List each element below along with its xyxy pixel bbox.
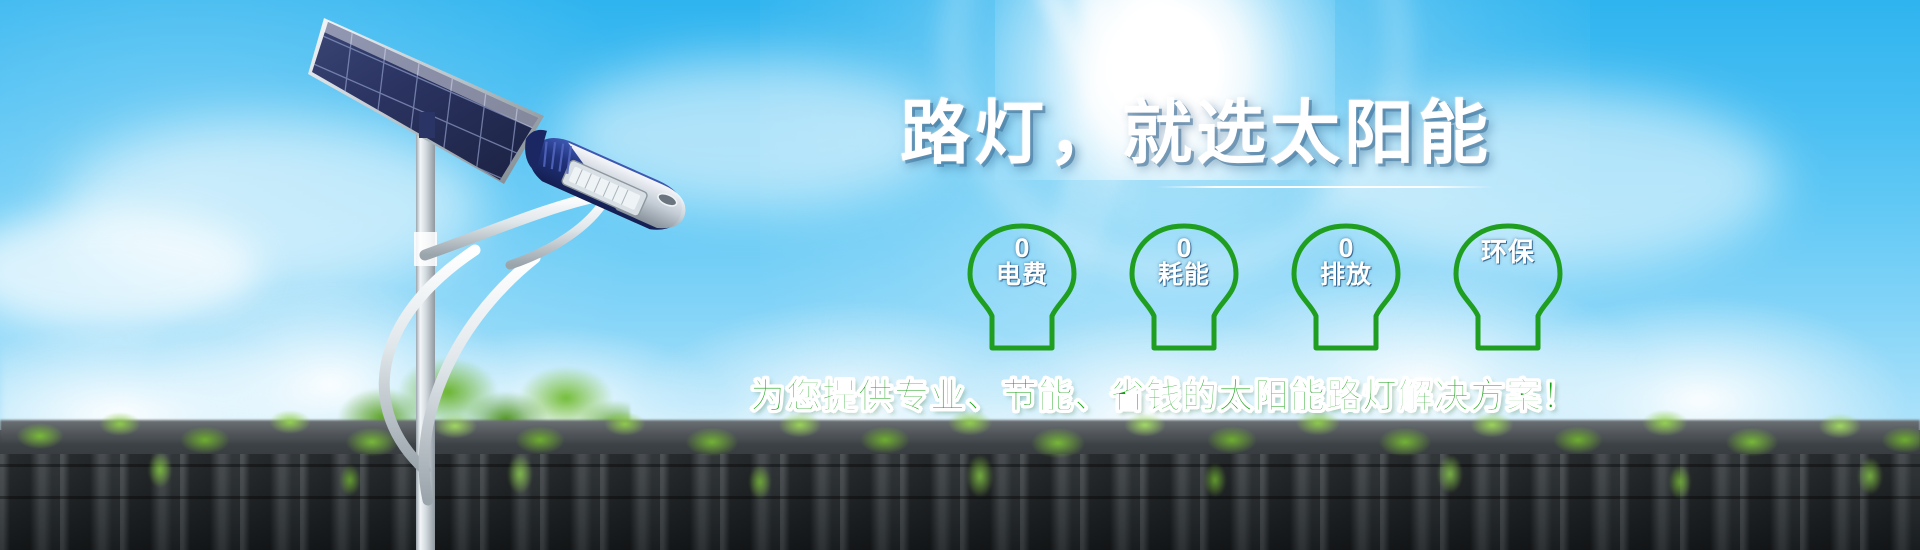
- feature-badge[interactable]: 0 耗能: [1122, 220, 1246, 356]
- decorative-arm: [424, 258, 535, 500]
- feature-badge[interactable]: 0 排放: [1284, 220, 1408, 356]
- panel-mount: [419, 112, 435, 138]
- badge-value: 0: [1338, 234, 1353, 262]
- feature-badge-list: 0 电费 0 耗能 0 排放: [960, 220, 1660, 360]
- badge-value: 0: [1014, 234, 1029, 262]
- badge-label: 耗能: [1158, 262, 1210, 290]
- banner-copy: 路灯，就选太阳能 0 电费 0 耗能: [760, 90, 1770, 430]
- badge-label: 电费: [996, 262, 1048, 290]
- badge-label: 环保: [1481, 234, 1535, 267]
- badge-value: 0: [1176, 234, 1191, 262]
- lamp-arm: [425, 196, 600, 255]
- page-title: 路灯，就选太阳能: [900, 98, 1492, 168]
- headline-divider: [1156, 186, 1494, 188]
- feature-badge[interactable]: 0 电费: [960, 220, 1084, 356]
- feature-badge[interactable]: 环保: [1446, 220, 1570, 356]
- solar-street-light: [300, 0, 740, 550]
- tagline: 为您提供专业、节能、省钱的太阳能路灯解决方案！: [750, 368, 1578, 419]
- ivy-trailing-vines: [0, 450, 1920, 520]
- badge-label: 排放: [1320, 262, 1372, 290]
- led-lamp-head: [513, 124, 694, 240]
- solar-street-light-banner: 路灯，就选太阳能 0 电费 0 耗能: [0, 0, 1920, 550]
